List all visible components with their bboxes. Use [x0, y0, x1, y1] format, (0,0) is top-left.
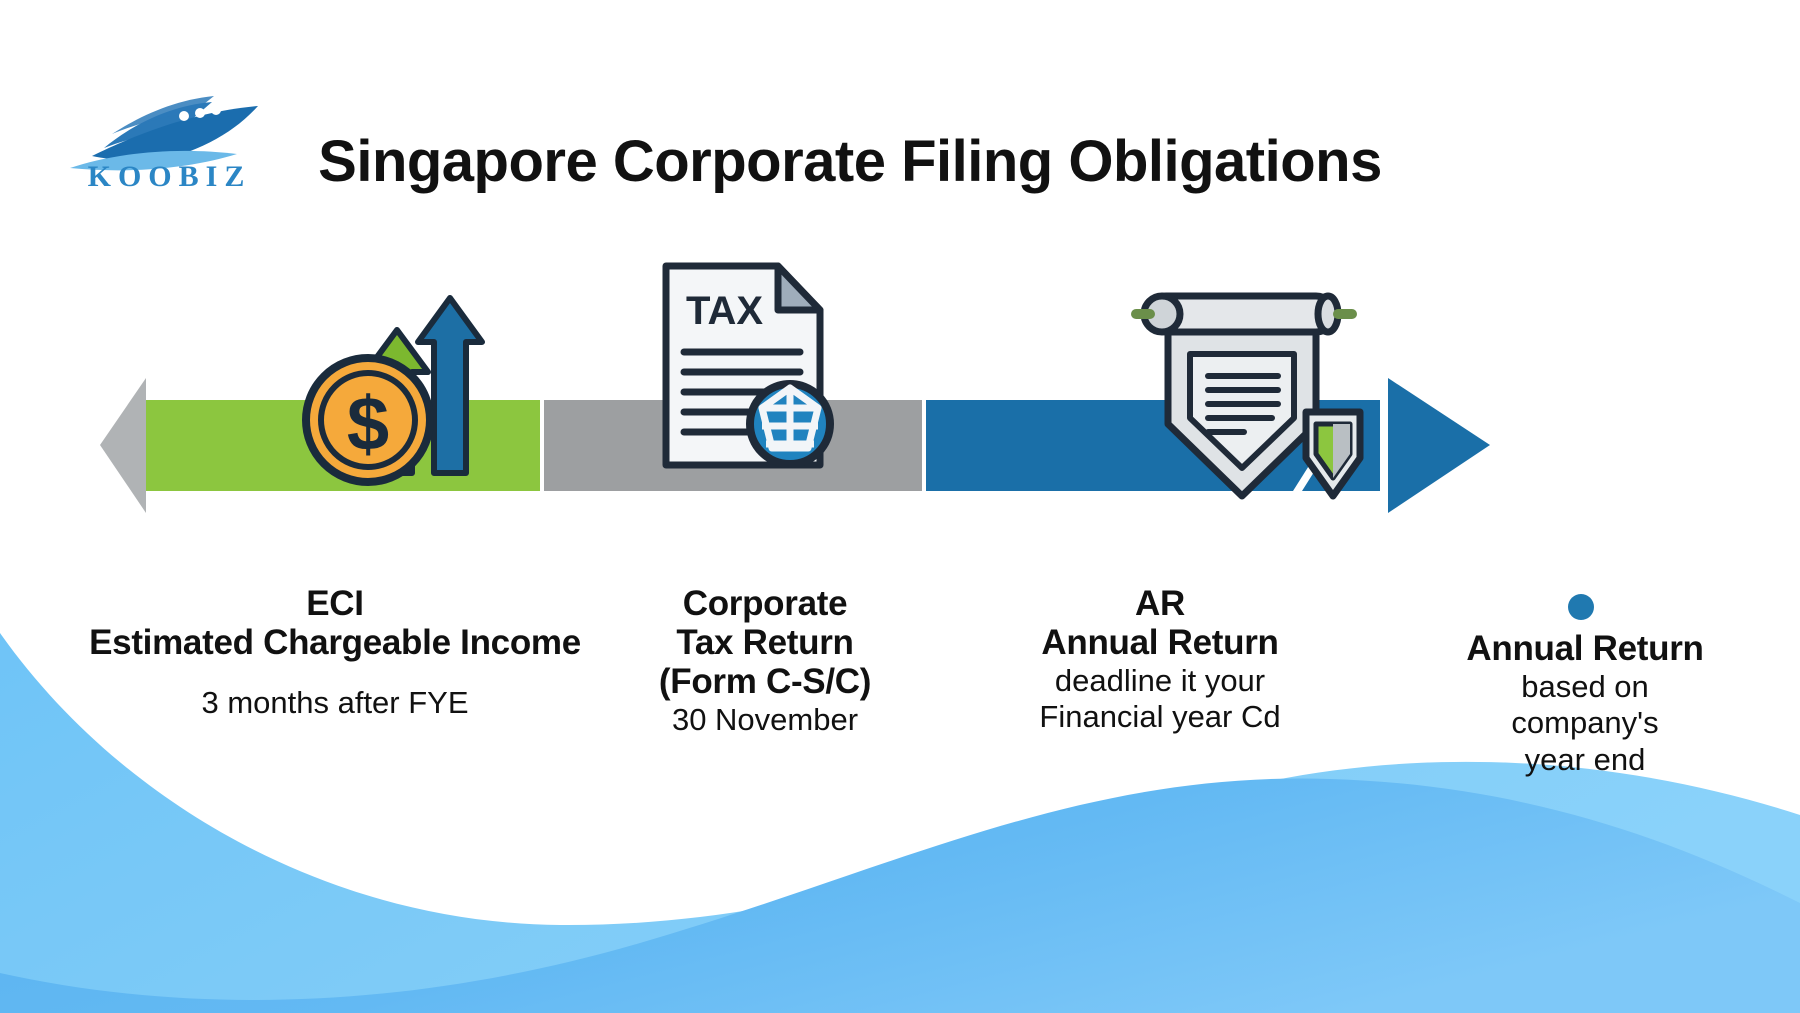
column-annual-return-year-end: Annual Return based on company's year en… — [1420, 630, 1750, 779]
coin-growth-icon: $ — [300, 268, 500, 493]
brand-wordmark: KOOBIZ — [62, 160, 277, 194]
tax-document-icon: TAX — [648, 258, 848, 473]
banner-left-arrowhead — [100, 378, 146, 513]
infographic-canvas: KOOBIZ Singapore Corporate Filing Obliga… — [0, 0, 1800, 1013]
tax-page-fold — [778, 266, 820, 310]
ctr-note: 30 November — [600, 702, 930, 739]
ar2-note-line1: based on — [1420, 669, 1750, 706]
page-title: Singapore Corporate Filing Obligations — [300, 128, 1400, 195]
ar2-title: Annual Return — [1420, 630, 1750, 669]
brand-logo[interactable]: KOOBIZ — [62, 76, 277, 206]
coin-dollar-symbol: $ — [347, 382, 389, 467]
ship-logo-icon — [62, 76, 277, 171]
ar2-note-line3: year end — [1420, 742, 1750, 779]
eci-title: Estimated Chargeable Income — [70, 624, 600, 663]
ar-note-line1: deadline it your — [975, 663, 1345, 700]
timeline-end-dot — [1568, 594, 1594, 620]
ctr-title-line2: Tax Return — [600, 624, 930, 663]
column-annual-return: AR Annual Return deadline it your Financ… — [975, 585, 1345, 736]
certificate-scroll-icon — [1120, 290, 1370, 505]
ar-abbr: AR — [975, 585, 1345, 624]
eci-abbr: ECI — [70, 585, 600, 624]
tax-label: TAX — [686, 289, 763, 333]
banner-right-arrowhead — [1388, 378, 1490, 513]
ctr-title-line3: (Form C-S/C) — [600, 663, 930, 702]
wave-front-path — [0, 779, 1800, 1013]
shield-badge-icon — [1306, 412, 1360, 496]
ar-title: Annual Return — [975, 624, 1345, 663]
eci-note: 3 months after FYE — [70, 685, 600, 722]
ar-note-line2: Financial year Cd — [975, 699, 1345, 736]
globe-badge-icon — [750, 384, 830, 464]
column-eci: ECI Estimated Chargeable Income 3 months… — [70, 585, 600, 721]
ar2-note-line2: company's — [1420, 705, 1750, 742]
column-corporate-tax-return: Corporate Tax Return (Form C-S/C) 30 Nov… — [600, 585, 930, 738]
ctr-title-line1: Corporate — [600, 585, 930, 624]
